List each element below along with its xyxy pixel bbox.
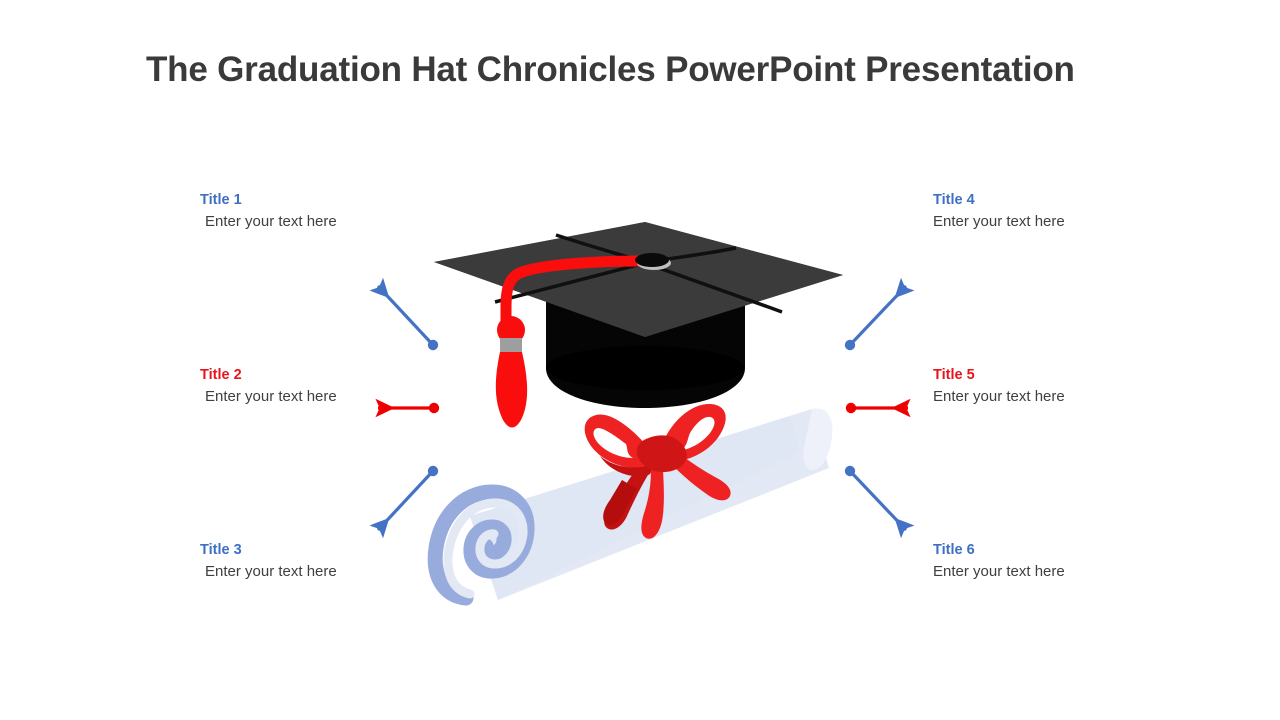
text-block-3[interactable]: Title 3 Enter your text here [200, 541, 430, 582]
arrow-up-left-blue [378, 286, 438, 350]
arrow-down-right-blue [845, 466, 906, 530]
cap-button [635, 253, 671, 270]
mortarboard [434, 222, 843, 337]
tassel-cord [506, 261, 645, 325]
text-block-2[interactable]: Title 2 Enter your text here [200, 366, 430, 407]
tassel [496, 316, 527, 428]
text-block-4-body[interactable]: Enter your text here [933, 212, 1163, 232]
text-block-2-body[interactable]: Enter your text here [200, 387, 430, 407]
diploma-scroll [435, 408, 832, 600]
text-block-1[interactable]: Title 1 Enter your text here [200, 191, 430, 232]
arrow-right-red [846, 403, 908, 413]
text-block-3-body[interactable]: Enter your text here [200, 562, 430, 582]
text-block-2-title: Title 2 [200, 366, 430, 384]
connector-arrows [0, 0, 1280, 720]
graduation-cap-and-diploma-illustration [0, 0, 1280, 720]
text-block-4[interactable]: Title 4 Enter your text here [933, 191, 1163, 232]
text-block-6[interactable]: Title 6 Enter your text here [933, 541, 1163, 582]
text-block-6-body[interactable]: Enter your text here [933, 562, 1163, 582]
text-block-4-title: Title 4 [933, 191, 1163, 209]
page-title: The Graduation Hat Chronicles PowerPoint… [146, 50, 1146, 90]
text-block-3-title: Title 3 [200, 541, 430, 559]
text-block-5[interactable]: Title 5 Enter your text here [933, 366, 1163, 407]
text-block-5-title: Title 5 [933, 366, 1163, 384]
graduation-cap [434, 222, 843, 428]
text-block-1-body[interactable]: Enter your text here [200, 212, 430, 232]
cap-crown [546, 300, 745, 408]
text-block-5-body[interactable]: Enter your text here [933, 387, 1163, 407]
arrow-down-left-blue [378, 466, 438, 530]
slide-canvas: The Graduation Hat Chronicles PowerPoint… [0, 0, 1280, 720]
text-block-1-title: Title 1 [200, 191, 430, 209]
arrow-up-right-blue [845, 286, 906, 350]
text-block-6-title: Title 6 [933, 541, 1163, 559]
ribbon-bow [585, 404, 731, 539]
scroll-spiral-end [435, 492, 527, 598]
